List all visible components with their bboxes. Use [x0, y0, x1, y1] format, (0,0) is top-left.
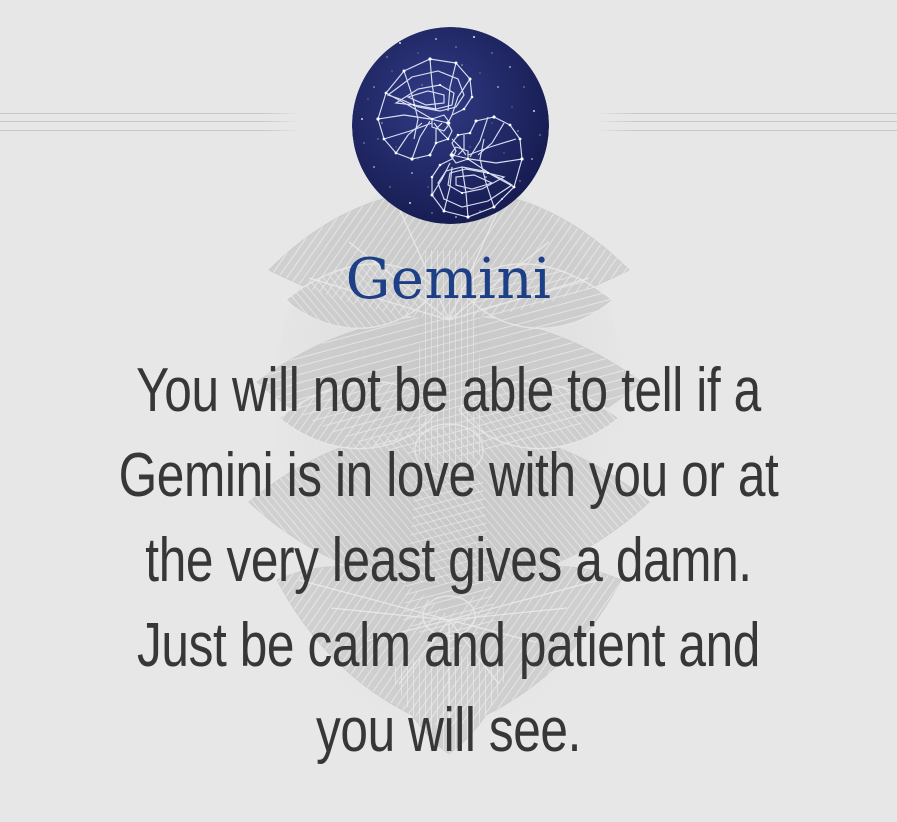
- gemini-horoscope-card: Gemini You will not be able to tell if a…: [0, 0, 897, 822]
- horoscope-quote: You will not be able to tell if a Gemini…: [90, 348, 808, 773]
- badge-sky: [352, 27, 549, 224]
- rule-line: [0, 130, 300, 131]
- quote-line: Gemini is in love with you or at: [90, 433, 808, 518]
- page-title: Gemini: [0, 252, 897, 308]
- decorative-rules-left: [0, 108, 300, 138]
- rule-line: [0, 113, 300, 114]
- quote-line: Just be calm and patient and: [90, 603, 808, 688]
- decorative-rules-right: [597, 108, 897, 138]
- quote-line: you will see.: [90, 688, 808, 773]
- gemini-constellation-badge: [352, 27, 549, 224]
- quote-line: the very least gives a damn.: [90, 518, 808, 603]
- rule-line: [597, 113, 897, 114]
- quote-line: You will not be able to tell if a: [90, 348, 808, 433]
- rule-line: [0, 121, 300, 122]
- rule-line: [597, 130, 897, 131]
- rule-line: [597, 121, 897, 122]
